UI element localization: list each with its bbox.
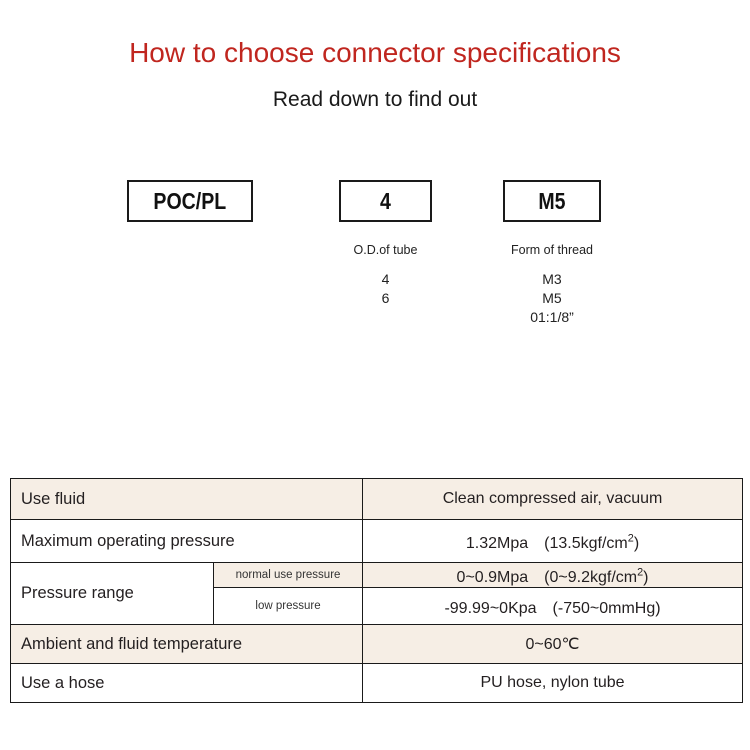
spec-sublabel-low-pressure: low pressure [214,588,363,625]
code-column-series: POC/PL [127,180,253,243]
code-option: 4 [339,270,432,289]
spec-value-tail: ) [643,569,648,586]
code-option: M3 [503,270,601,289]
code-box-series: POC/PL [127,180,253,222]
spec-label-pressure-range: Pressure range [11,563,214,625]
code-column-thread-form: M5 Form of thread M3 M5 01:1/8” [503,180,601,327]
spec-value-use-fluid: Clean compressed air, vacuum [363,479,743,520]
spec-label-ambient-fluid-temperature: Ambient and fluid temperature [11,625,363,664]
code-box-thread-form-value: M5 [538,188,565,215]
table-row: Use fluid Clean compressed air, vacuum [11,479,743,520]
code-box-tube-od: 4 [339,180,432,222]
page-subtitle: Read down to find out [0,87,750,113]
code-column-tube-od: 4 O.D.of tube 4 6 [339,180,432,308]
code-column-tube-od-heading: O.D.of tube [339,243,432,257]
code-box-series-value: POC/PL [154,188,227,215]
part-code-breakdown: POC/PL 4 O.D.of tube 4 6 M5 Form of thre… [0,180,750,340]
spec-value-text: 0~0.9Mpa (0~9.2kgf/cm [457,569,638,586]
code-box-tube-od-value: 4 [380,188,391,215]
code-box-thread-form: M5 [503,180,601,222]
spec-value-max-operating-pressure: 1.32Mpa (13.5kgf/cm2) [363,520,743,563]
spec-sublabel-normal-use-pressure: normal use pressure [214,563,363,588]
spec-value-text: 1.32Mpa (13.5kgf/cm [466,535,628,552]
code-option: M5 [503,289,601,308]
spec-label-use-a-hose: Use a hose [11,664,363,703]
code-column-tube-od-options: 4 6 [339,270,432,308]
spec-value-use-a-hose: PU hose, nylon tube [363,664,743,703]
code-option: 6 [339,289,432,308]
page-title: How to choose connector specifications [0,36,750,70]
table-row: Pressure range normal use pressure 0~0.9… [11,563,743,588]
spec-value-ambient-fluid-temperature: 0~60℃ [363,625,743,664]
spec-value-tail: ) [634,535,639,552]
spec-value-normal-use-pressure: 0~0.9Mpa (0~9.2kgf/cm2) [363,563,743,588]
table-row: Maximum operating pressure 1.32Mpa (13.5… [11,520,743,563]
spec-label-use-fluid: Use fluid [11,479,363,520]
table-row: Use a hose PU hose, nylon tube [11,664,743,703]
code-column-thread-form-heading: Form of thread [503,243,601,257]
spec-label-max-operating-pressure: Maximum operating pressure [11,520,363,563]
spec-value-low-pressure: -99.99~0Kpa (-750~0mmHg) [363,588,743,625]
code-option: 01:1/8” [503,308,601,327]
table-row: Ambient and fluid temperature 0~60℃ [11,625,743,664]
code-column-thread-form-options: M3 M5 01:1/8” [503,270,601,327]
specification-table: Use fluid Clean compressed air, vacuum M… [10,478,743,703]
